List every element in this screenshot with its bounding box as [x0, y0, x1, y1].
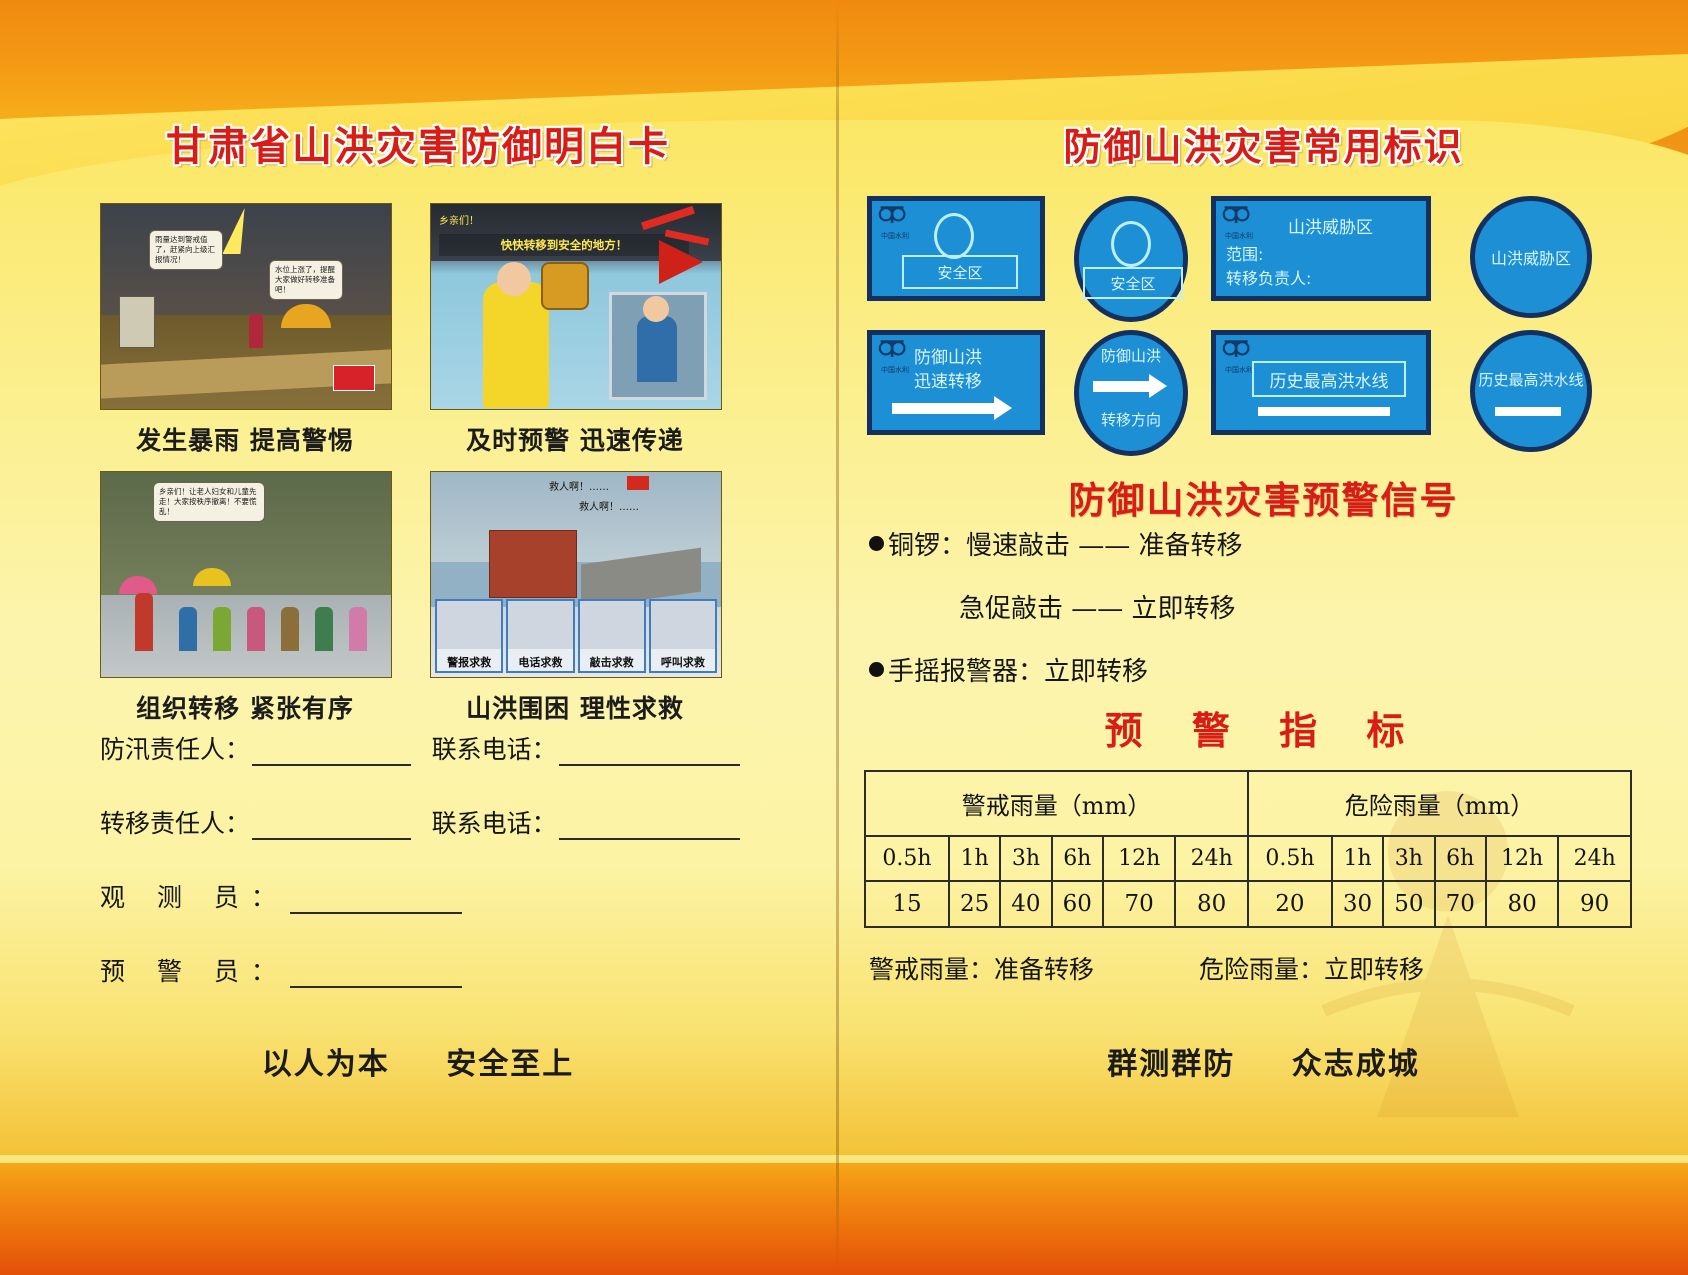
sign-cell: 中国水利 历史最高洪水线	[1211, 330, 1431, 435]
signage-gallery: 中国水利 安全区 安全区	[861, 196, 1671, 448]
scene-early-warning: 乡亲们！ 快快转移到安全的地方！	[430, 203, 722, 410]
left-slogan-a: 以人为本	[262, 1047, 390, 1082]
resident-figure	[637, 316, 677, 382]
duration-cell: 1h	[949, 836, 1000, 881]
sign-label-box: 安全区	[902, 255, 1018, 289]
rescue-tile: 敲击求救	[578, 599, 646, 673]
sign-label: 山洪威胁区	[1475, 245, 1587, 269]
rescue-tile-label: 警报求救	[437, 654, 501, 670]
poster-root: 甘肃省山洪灾害防御明白卡 雨量达到警戒值了，赶紧向上级汇报情况！ 水位上涨了，	[0, 0, 1688, 1275]
rescue-art	[651, 601, 715, 649]
table-value-row: 15 25 40 60 70 80 20 30 50 70 80 90	[865, 881, 1631, 927]
evacuee-1	[135, 593, 153, 651]
water-line-icon	[1495, 407, 1561, 416]
red-flag-icon	[627, 476, 649, 490]
sign-label-box: 安全区	[1083, 267, 1183, 299]
responsibility-form: 防汛责任人： 联系电话： 转移责任人： 联系电话： 观 测 员： 预 警 员：	[100, 730, 740, 1026]
sign-cell: 历史最高洪水线	[1431, 330, 1631, 452]
value-cell: 20	[1248, 881, 1332, 927]
value-cell: 40	[1000, 881, 1051, 927]
value-cell: 50	[1383, 881, 1434, 927]
duration-cell: 12h	[1103, 836, 1176, 881]
signal-siren-text: 手摇报警器：立即转移	[888, 651, 1148, 688]
sign-flood-line-circle: 历史最高洪水线	[1470, 330, 1592, 452]
bullet-icon	[869, 536, 884, 551]
water-emblem-icon: 中国水利	[878, 340, 912, 370]
form-row-transfer-officer: 转移责任人： 联系电话：	[100, 804, 740, 840]
speech-bubble-3: 乡亲们！让老人妇女和儿童先走！大家按秩序撤离！不要慌乱！	[153, 482, 265, 522]
water-level-marker	[333, 365, 375, 391]
right-title: 防御山洪灾害常用标识	[839, 116, 1688, 171]
transfer-officer-phone-label: 联系电话：	[432, 804, 557, 840]
flood-officer-input[interactable]	[252, 737, 411, 766]
evacuee-3	[213, 607, 231, 651]
duration-cell: 3h	[1383, 836, 1434, 881]
transfer-officer-input[interactable]	[252, 811, 411, 840]
warning-signal-title: 防御山洪灾害预警信号	[839, 470, 1688, 524]
illustration-caption-3: 组织转移 紧张有序	[100, 678, 390, 725]
rescue-call-2: 救人啊！……	[579, 498, 639, 513]
evacuee-2	[179, 607, 197, 651]
resident-head	[643, 296, 669, 322]
right-slogan: 群测群防 众志成城	[839, 1039, 1688, 1083]
left-title: 甘肃省山洪灾害防御明白卡	[0, 114, 836, 172]
right-slogan-a: 群测群防	[1107, 1047, 1235, 1082]
note-warning: 警戒雨量：准备转移	[869, 950, 1199, 986]
scene-heavy-rain: 雨量达到警戒值了，赶紧向上级汇报情况！ 水位上涨了，提醒大家做好转移准备吧！	[100, 203, 392, 410]
right-panel: 防御山洪灾害常用标识 中国水利	[839, 0, 1688, 1275]
sign-threat-officer: 转移负责人:	[1226, 265, 1311, 289]
rescue-art	[580, 601, 644, 649]
value-cell: 60	[1052, 881, 1103, 927]
right-slogan-b: 众志成城	[1292, 1047, 1420, 1082]
rainfall-table: 警戒雨量（mm） 危险雨量（mm） 0.5h 1h 3h 6h 12h 24h …	[864, 770, 1632, 928]
emblem-caption: 中国水利	[1222, 231, 1256, 241]
sign-cell: 安全区	[1051, 196, 1211, 322]
signal-item-siren: 手摇报警器：立即转移	[869, 651, 1659, 688]
value-cell: 25	[949, 881, 1000, 927]
illustration-caption-2: 及时预警 迅速传递	[430, 410, 720, 457]
duration-cell: 24h	[1558, 836, 1631, 881]
duration-cell: 1h	[1332, 836, 1383, 881]
evacuee-6	[315, 607, 333, 651]
rescue-tile: 呼叫求救	[649, 599, 717, 673]
duration-cell: 6h	[1435, 836, 1486, 881]
sign-cell: 中国水利 安全区	[861, 196, 1051, 301]
alerter-label: 预 警 员：	[100, 952, 288, 988]
speech-bubble-2: 水位上涨了，提醒大家做好转移准备吧！	[269, 260, 343, 300]
duration-cell: 3h	[1000, 836, 1051, 881]
sign-evacuate-rect: 中国水利 防御山洪 迅速转移	[867, 330, 1045, 435]
house	[119, 296, 155, 348]
emblem-caption: 中国水利	[1222, 365, 1256, 375]
duration-cell: 0.5h	[1248, 836, 1332, 881]
value-cell: 70	[1435, 881, 1486, 927]
illustration-cell-2: 乡亲们！ 快快转移到安全的地方！ 及时预警 迅速传递	[430, 203, 720, 457]
illustration-row-1: 雨量达到警戒值了，赶紧向上级汇报情况！ 水位上涨了，提醒大家做好转移准备吧！ 发…	[100, 203, 720, 457]
duration-cell: 6h	[1052, 836, 1103, 881]
table-group-header-row: 警戒雨量（mm） 危险雨量（mm）	[865, 771, 1631, 836]
sign-direction-line1: 防御山洪	[1079, 345, 1183, 366]
signage-row-2: 中国水利 防御山洪 迅速转移 防御山洪 转移方向	[861, 330, 1671, 448]
duration-cell: 0.5h	[865, 836, 949, 881]
sign-evacuate-line2: 迅速转移	[914, 367, 982, 392]
arrow-right-icon	[892, 403, 996, 414]
villager-figure	[249, 314, 263, 348]
transfer-officer-label: 转移责任人：	[100, 804, 250, 840]
flood-officer-phone-input[interactable]	[559, 737, 740, 766]
water-emblem-icon: 中国水利	[1222, 206, 1256, 236]
illustration-cell-4: 救人啊！…… 救人啊！…… 警报求救 电话求救	[430, 471, 720, 725]
rescue-method-tiles: 警报求救 电话求救 敲击求救	[435, 599, 717, 673]
value-cell: 80	[1486, 881, 1559, 927]
emblem-caption: 中国水利	[878, 231, 912, 241]
rescue-tile-label: 呼叫求救	[651, 654, 715, 670]
sign-cell: 山洪威胁区	[1431, 196, 1631, 318]
sign-threat-title: 山洪威胁区	[1288, 213, 1373, 238]
sign-direction-line2: 转移方向	[1079, 409, 1183, 430]
sign-flood-line-label: 历史最高洪水线	[1252, 361, 1406, 397]
evacuee-4	[247, 607, 265, 651]
warning-call-text: 快快转移到安全的地方！	[439, 234, 689, 256]
signal-gong-text: 铜锣：慢速敲击 —— 准备转移	[888, 525, 1243, 562]
left-slogan-b: 安全至上	[446, 1047, 574, 1082]
warning-signal-list: 铜锣：慢速敲击 —— 准备转移 急促敲击 —— 立即转移 手摇报警器：立即转移	[869, 525, 1659, 714]
illustration-grid: 雨量达到警戒值了，赶紧向上级汇报情况！ 水位上涨了，提醒大家做好转移准备吧！ 发…	[100, 203, 720, 725]
signage-row-1: 中国水利 安全区 安全区	[861, 196, 1671, 314]
duration-cell: 24h	[1175, 836, 1248, 881]
rescue-art	[437, 601, 501, 649]
speech-bubble-1: 雨量达到警戒值了，赶紧向上级汇报情况！	[149, 230, 223, 270]
sign-cell: 中国水利 山洪威胁区 范围: 转移负责人:	[1211, 196, 1431, 301]
sign-safe-zone-circle: 安全区	[1074, 196, 1188, 322]
rainfall-table-wrap: 警戒雨量（mm） 危险雨量（mm） 0.5h 1h 3h 6h 12h 24h …	[864, 770, 1632, 928]
flooded-building	[489, 530, 577, 598]
flood-officer-label: 防汛责任人：	[100, 730, 250, 766]
rescue-tile: 电话求救	[506, 599, 574, 673]
sign-threat-zone-circle: 山洪威胁区	[1470, 196, 1592, 318]
group-header-warning: 警戒雨量（mm）	[865, 771, 1248, 836]
warning-call-small: 乡亲们！	[439, 212, 479, 227]
form-row-observer: 观 测 员：	[100, 878, 740, 914]
form-row-alerter: 预 警 员：	[100, 952, 740, 988]
signal-item-urgent: 急促敲击 —— 立即转移	[869, 588, 1659, 625]
table-duration-row: 0.5h 1h 3h 6h 12h 24h 0.5h 1h 3h 6h 12h …	[865, 836, 1631, 881]
note-danger: 危险雨量：立即转移	[1199, 950, 1424, 986]
evacuee-5	[281, 607, 299, 651]
duration-cell: 12h	[1486, 836, 1559, 881]
value-cell: 30	[1332, 881, 1383, 927]
rescue-tile-label: 敲击求救	[580, 654, 644, 670]
illustration-caption-1: 发生暴雨 提高警惕	[100, 410, 390, 457]
signal-item-gong: 铜锣：慢速敲击 —— 准备转移	[869, 525, 1659, 562]
sign-safe-zone-rect: 中国水利 安全区	[867, 196, 1045, 301]
left-slogan: 以人为本 安全至上	[0, 1039, 836, 1083]
person-circle-icon	[1111, 221, 1151, 267]
scene-flood-rescue: 救人啊！…… 救人啊！…… 警报求救 电话求救	[430, 471, 722, 678]
emblem-caption: 中国水利	[878, 365, 912, 375]
value-cell: 70	[1103, 881, 1176, 927]
alerter-input[interactable]	[290, 959, 462, 988]
bullet-icon	[869, 662, 884, 677]
illustration-cell-3: 乡亲们！让老人妇女和儿童先走！大家按秩序撤离！不要慌乱！ 组织转移 紧张有序	[100, 471, 390, 725]
observer-input[interactable]	[290, 885, 462, 914]
value-cell: 90	[1558, 881, 1631, 927]
flood-officer-phone-label: 联系电话：	[432, 730, 557, 766]
group-header-danger: 危险雨量（mm）	[1248, 771, 1631, 836]
rescue-tile-label: 电话求救	[508, 654, 572, 670]
loudspeaker-icon	[659, 240, 703, 284]
warden-figure	[483, 282, 549, 408]
warden-head	[497, 262, 531, 296]
sign-evacuate-direction-circle: 防御山洪 转移方向	[1074, 330, 1188, 456]
illustration-row-2: 乡亲们！让老人妇女和儿童先走！大家按秩序撤离！不要慌乱！ 组织转移 紧张有序	[100, 471, 720, 725]
table-notes: 警戒雨量：准备转移 危险雨量：立即转移	[869, 950, 1649, 986]
illustration-caption-4: 山洪围困 理性求救	[430, 678, 720, 725]
sign-threat-zone-rect: 中国水利 山洪威胁区 范围: 转移负责人:	[1211, 196, 1431, 301]
water-line-icon	[1258, 407, 1390, 416]
sign-threat-range: 范围:	[1226, 241, 1263, 265]
value-cell: 80	[1175, 881, 1248, 927]
sign-cell: 防御山洪 转移方向	[1051, 330, 1211, 456]
gong-icon	[541, 262, 589, 310]
water-emblem-icon: 中国水利	[878, 206, 912, 236]
illustration-cell-1: 雨量达到警戒值了，赶紧向上级汇报情况！ 水位上涨了，提醒大家做好转移准备吧！ 发…	[100, 203, 390, 457]
water-emblem-icon: 中国水利	[1222, 340, 1256, 370]
person-circle-icon	[934, 213, 974, 259]
sign-label: 历史最高洪水线	[1475, 369, 1587, 390]
rescue-call-1: 救人啊！……	[549, 478, 609, 493]
arrow-right-icon	[1093, 381, 1151, 392]
scene-evacuation: 乡亲们！让老人妇女和儿童先走！大家按秩序撤离！不要慌乱！	[100, 471, 392, 678]
sign-evacuate-line1: 防御山洪	[914, 343, 982, 368]
sign-cell: 中国水利 防御山洪 迅速转移	[861, 330, 1051, 435]
form-row-flood-officer: 防汛责任人： 联系电话：	[100, 730, 740, 766]
warning-index-title: 预 警 指 标	[839, 700, 1688, 755]
rescue-tile: 警报求救	[435, 599, 503, 673]
sign-flood-line-rect: 中国水利 历史最高洪水线	[1211, 330, 1431, 435]
transfer-officer-phone-input[interactable]	[559, 811, 740, 840]
value-cell: 15	[865, 881, 949, 927]
observer-label: 观 测 员：	[100, 878, 288, 914]
rescue-art	[508, 601, 572, 649]
evacuee-7	[349, 607, 367, 651]
left-panel: 甘肃省山洪灾害防御明白卡 雨量达到警戒值了，赶紧向上级汇报情况！ 水位上涨了，	[0, 0, 836, 1275]
